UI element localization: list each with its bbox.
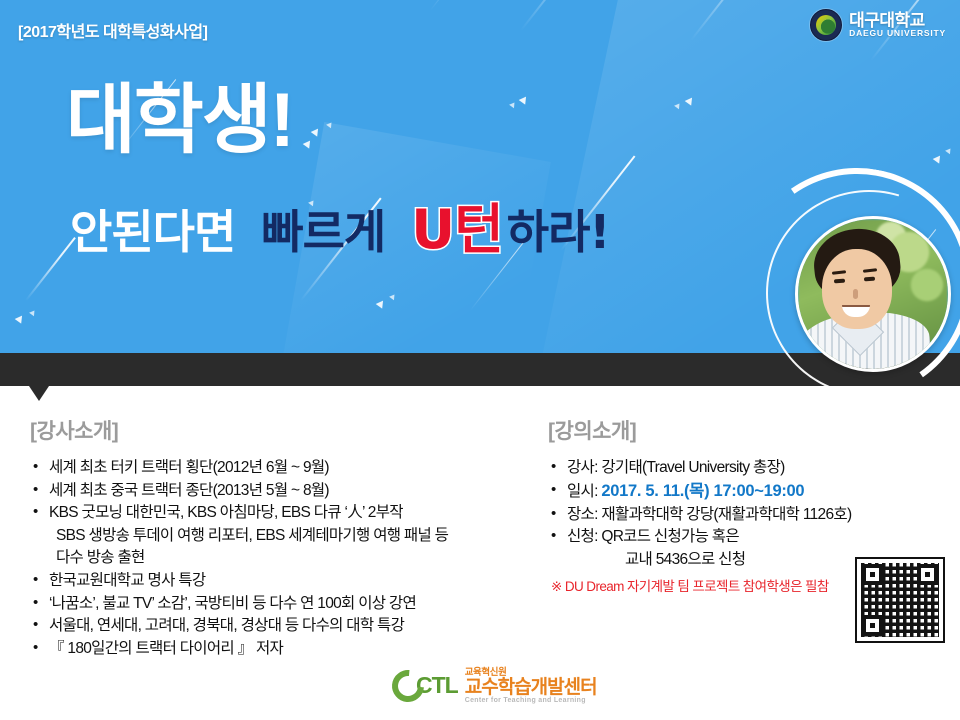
qr-finder-top-left bbox=[862, 564, 883, 585]
lecture-datetime-value: 2017. 5. 11.(목) 17:00~19:00 bbox=[601, 482, 804, 500]
hero-uturn-text: U턴 bbox=[411, 185, 503, 264]
list-item: 세계 최초 중국 트랙터 종단(2013년 5월 ~ 8월) bbox=[30, 481, 540, 502]
ctl-center-name-english: Center for Teaching and Learning bbox=[465, 697, 597, 704]
list-item: 『 180일간의 트랙터 다이어리 』 저자 bbox=[30, 639, 540, 660]
ctl-text-block: 교육혁신원 교수학습개발센터 Center for Teaching and L… bbox=[465, 668, 597, 704]
spark-triangle-icon bbox=[376, 298, 387, 308]
lecture-datetime-label: 일시: bbox=[567, 483, 598, 500]
divider-arrow-icon bbox=[29, 386, 49, 401]
spark-triangle-icon bbox=[945, 147, 953, 155]
diagonal-streak bbox=[690, 0, 809, 41]
ctl-logo: CTL 교육혁신원 교수학습개발센터 Center for Teaching a… bbox=[392, 668, 597, 704]
ctl-arc-icon bbox=[385, 663, 430, 708]
lecture-datetime: 일시: 2017. 5. 11.(목) 17:00~19:00 bbox=[548, 481, 948, 503]
hero-headline: 대학생! bbox=[66, 83, 293, 159]
ctl-center-name: 교수학습개발센터 bbox=[465, 678, 597, 697]
list-item: 세계 최초 터키 트랙터 횡단(2012년 6월 ~ 9월) bbox=[30, 458, 540, 479]
hero-hand-tail: 하라! bbox=[507, 196, 610, 262]
list-item: 한국교원대학교 명사 특강 bbox=[30, 571, 540, 592]
brand-text-block: 대구대학교 DAEGU UNIVERSITY bbox=[849, 12, 946, 38]
spark-triangle-icon bbox=[933, 153, 944, 163]
portrait-eye-left bbox=[834, 279, 845, 284]
poster-canvas: [2017학년도 대학특성화사업] 대구대학교 DAEGU UNIVERSITY… bbox=[0, 0, 960, 720]
diagonal-streak bbox=[520, 0, 645, 31]
speaker-portrait bbox=[795, 216, 951, 372]
brand-name-english: DAEGU UNIVERSITY bbox=[849, 29, 946, 38]
diagonal-streak bbox=[180, 0, 274, 1]
spark-triangle-icon bbox=[29, 309, 37, 317]
lecture-bullet-list: 강사: 강기태(Travel University 총장) 일시: 2017. … bbox=[548, 458, 948, 570]
list-item: KBS 굿모닝 대한민국, KBS 아침마당, EBS 다큐 ‘人’ 2부작 bbox=[30, 503, 540, 524]
spark-triangle-icon bbox=[509, 101, 517, 109]
diagonal-streak bbox=[25, 237, 76, 301]
university-brand: 대구대학교 DAEGU UNIVERSITY bbox=[810, 9, 946, 41]
qr-finder-bottom-left bbox=[862, 615, 883, 636]
qr-code-pattern bbox=[861, 563, 939, 637]
spark-triangle-icon bbox=[311, 126, 322, 136]
spark-triangle-icon bbox=[674, 102, 682, 110]
program-tag: [2017학년도 대학특성화사업] bbox=[18, 18, 207, 42]
instructor-section: [강사소개] 세계 최초 터키 트랙터 횡단(2012년 6월 ~ 9월) 세계… bbox=[30, 415, 540, 661]
diagonal-streak bbox=[760, 0, 841, 1]
qr-finder-top-right bbox=[917, 564, 938, 585]
lecture-instructor: 강사: 강기태(Travel University 총장) bbox=[548, 458, 948, 479]
lecture-section-title: [강의소개] bbox=[548, 415, 948, 445]
list-item: SBS 생방송 투데이 여행 리포터, EBS 세계테마기행 여행 패널 등 bbox=[30, 526, 540, 547]
spark-triangle-icon bbox=[389, 293, 397, 301]
list-item: 서울대, 연세대, 고려대, 경북대, 경상대 등 다수의 대학 특강 bbox=[30, 616, 540, 637]
lecture-apply: 신청: QR코드 신청가능 혹은 bbox=[548, 527, 948, 548]
portrait-eye-right bbox=[864, 277, 875, 282]
diagonal-streak bbox=[430, 0, 499, 11]
daegu-university-emblem-icon bbox=[810, 9, 842, 41]
instructor-section-title: [강사소개] bbox=[30, 415, 540, 445]
hero-hand-part-2: 빠르게 bbox=[261, 196, 385, 262]
spark-triangle-icon bbox=[326, 121, 334, 129]
portrait-nose bbox=[853, 289, 858, 299]
qr-code[interactable] bbox=[855, 557, 945, 643]
list-item: 다수 방송 출현 bbox=[30, 548, 540, 569]
spark-triangle-icon bbox=[303, 138, 314, 148]
brand-name-korean: 대구대학교 bbox=[849, 12, 946, 29]
lecture-place: 장소: 재활과학대학 강당(재활과학대학 1126호) bbox=[548, 505, 948, 526]
spark-triangle-icon bbox=[685, 95, 696, 105]
instructor-bullet-list: 세계 최초 터키 트랙터 횡단(2012년 6월 ~ 9월) 세계 최초 중국 … bbox=[30, 458, 540, 659]
hero-subheadline: 안된다면 빠르게 U턴 하라! bbox=[70, 185, 609, 264]
hero-hand-part-1: 안된다면 bbox=[70, 196, 235, 262]
list-item: ‘나꿈소’, 불교 TV’ 소감’, 국방티비 등 다수 연 100회 이상 강… bbox=[30, 594, 540, 615]
spark-triangle-icon bbox=[15, 313, 26, 323]
spark-triangle-icon bbox=[519, 94, 530, 104]
